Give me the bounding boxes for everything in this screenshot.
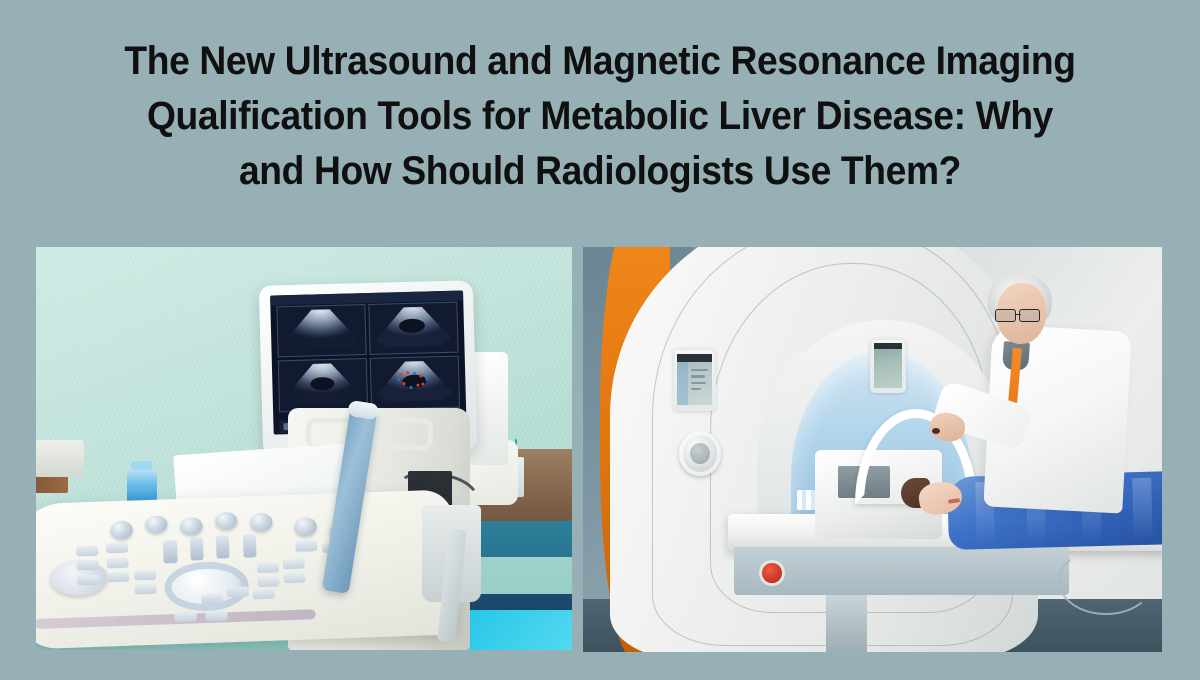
ultrasound-control-console[interactable] [36,489,456,649]
console-button-2[interactable] [106,543,128,554]
console-button-4[interactable] [106,557,128,568]
title-line-3: and How Should Radiologists Use Them? [42,144,1158,199]
console-button-10[interactable] [282,558,304,569]
console-slider-3[interactable] [216,535,230,559]
console-button-3[interactable] [76,560,98,571]
console-button-6[interactable] [107,572,129,583]
scan-image-1[interactable] [276,305,366,359]
console-button-13[interactable] [226,586,248,597]
console-button-12[interactable] [283,573,305,584]
gantry-display-panel-right[interactable] [870,338,906,393]
scan-image-2[interactable] [368,302,458,356]
console-button-5[interactable] [76,574,98,585]
console-knob-1[interactable] [110,521,133,539]
gel-bottle-cap [131,461,152,470]
mri-scanner-photo [583,247,1162,652]
scan-grid [276,302,460,412]
console-button-17[interactable] [205,610,227,621]
console-slider-4[interactable] [242,534,256,558]
console-knob-4[interactable] [215,511,238,529]
console-knob-6[interactable] [294,517,317,535]
console-knob-5[interactable] [250,513,273,531]
gantry-display-panel-left[interactable] [673,348,716,411]
ultrasound-machine-photo [36,247,572,650]
console-button-18[interactable] [295,540,317,551]
console-button-9[interactable] [256,562,278,573]
console-button-11[interactable] [257,577,279,588]
console-bracket [36,440,84,476]
console-knob-2[interactable] [144,515,167,533]
page-title: The New Ultrasound and Magnetic Resonanc… [0,34,1200,199]
title-line-2: Qualification Tools for Metabolic Liver … [42,89,1158,144]
gantry-control-knob[interactable] [679,431,722,476]
title-line-1: The New Ultrasound and Magnetic Resonanc… [42,34,1158,89]
scan-image-4-doppler[interactable] [370,356,460,410]
console-slider-1[interactable] [163,539,177,563]
console-button-14[interactable] [253,588,275,599]
console-button-15[interactable] [200,593,222,604]
mri-table-leg [826,595,867,652]
console-slider-2[interactable] [189,537,203,561]
console-button-8[interactable] [134,584,156,595]
mri-table-base [734,547,1070,596]
console-button-1[interactable] [75,545,97,556]
console-button-7[interactable] [133,569,155,580]
console-knob-3[interactable] [180,517,203,535]
radiologist-glasses [995,309,1040,320]
console-button-16[interactable] [174,611,196,622]
